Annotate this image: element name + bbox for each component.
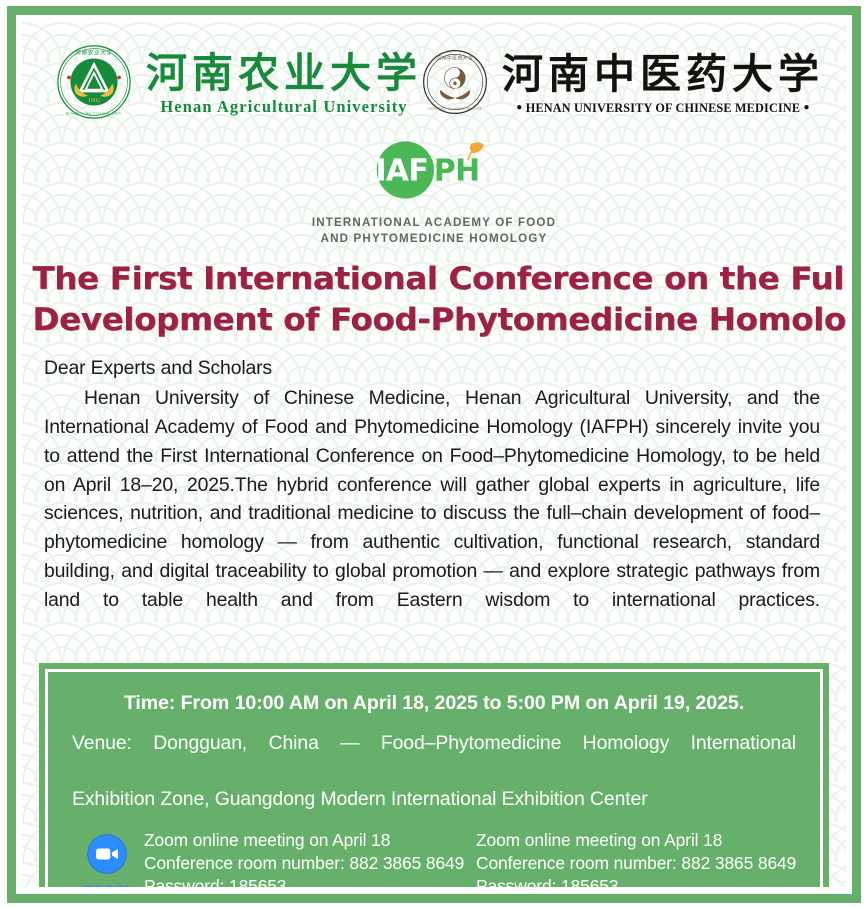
- zoom-meeting-row: zoom Zoom online meeting on April 18 Con…: [66, 829, 802, 887]
- iafph-branding: IAF PH INTERNATIONAL ACADEMY OF FOOD AND…: [22, 139, 846, 246]
- zoom-logo-block: zoom: [70, 829, 144, 887]
- zoom-col2-title: Zoom online meeting on April 18: [476, 829, 802, 852]
- event-venue-line2: Exhibition Zone, Guangdong Modern Intern…: [72, 785, 796, 813]
- svg-text:河南中医药大学: 河南中医药大学: [437, 55, 473, 62]
- invitation-body: Dear Experts and Scholars Henan Universi…: [44, 354, 820, 644]
- zoom-col2-password: Password: 185653: [476, 875, 802, 887]
- henan-agricultural-university-emblem-icon: 1902 河南农业大学 HENAN AGRICULTURAL UNIV.: [56, 44, 132, 125]
- henan-agricultural-university-en-name: Henan Agricultural University: [146, 97, 422, 117]
- event-details-inner: Time: From 10:00 AM on April 18, 2025 to…: [45, 669, 823, 887]
- henan-university-chinese-medicine-name: 河南中医药大学 ● HENAN UNIVERSITY OF CHINESE ME…: [502, 53, 824, 116]
- event-venue: Venue: Dongguan, China — Food–Phytomedic…: [72, 729, 796, 813]
- henan-university-chinese-medicine-en-name: ● HENAN UNIVERSITY OF CHINESE MEDICINE ●: [502, 101, 824, 116]
- bullet-right-icon: ●: [803, 102, 809, 113]
- svg-text:UNIVERSITY OF CHINESE MEDICINE: UNIVERSITY OF CHINESE MEDICINE: [428, 108, 481, 111]
- svg-text:河南农业大学: 河南农业大学: [75, 49, 112, 57]
- svg-text:HENAN AGRICULTURAL UNIV.: HENAN AGRICULTURAL UNIV.: [66, 112, 123, 116]
- conference-title-line1: The First International Conference on th…: [32, 259, 835, 299]
- zoom-col1-title: Zoom online meeting on April 18: [144, 829, 470, 852]
- event-time: Time: From 10:00 AM on April 18, 2025 to…: [66, 692, 802, 715]
- poster-content: 1902 河南农业大学 HENAN AGRICULTURAL UNIV. 河南农…: [22, 22, 846, 887]
- conference-title: The First International Conference on th…: [32, 259, 835, 340]
- event-details-box: Time: From 10:00 AM on April 18, 2025 to…: [39, 663, 829, 887]
- svg-text:1902: 1902: [88, 98, 100, 104]
- zoom-details-column-2: Zoom online meeting on April 18 Conferen…: [470, 829, 802, 887]
- henan-university-chinese-medicine-cn-name: 河南中医药大学: [502, 53, 824, 96]
- henan-university-chinese-medicine-emblem-icon: 河南中医药大学 UNIVERSITY OF CHINESE MEDICINE: [422, 49, 488, 120]
- henan-university-chinese-medicine-logo: 河南中医药大学 UNIVERSITY OF CHINESE MEDICINE 河…: [422, 49, 824, 120]
- invitation-paragraph: Henan University of Chinese Medicine, He…: [44, 384, 820, 644]
- henan-agricultural-university-name: 河南农业大学 Henan Agricultural University: [146, 52, 422, 118]
- zoom-details-column-1: Zoom online meeting on April 18 Conferen…: [144, 829, 470, 887]
- iafph-logo-icon: IAF PH: [362, 188, 506, 205]
- conference-title-line2: Development of Food-Phytomedicine Homolo…: [32, 300, 835, 340]
- bullet-left-icon: ●: [516, 102, 522, 113]
- iafph-subtitle-line1: INTERNATIONAL ACADEMY OF FOOD: [22, 215, 846, 231]
- zoom-col1-password: Password: 185653: [144, 875, 470, 887]
- salutation: Dear Experts and Scholars: [44, 354, 820, 383]
- henan-agricultural-university-logo: 1902 河南农业大学 HENAN AGRICULTURAL UNIV. 河南农…: [56, 44, 422, 125]
- zoom-wordmark: zoom: [70, 881, 144, 887]
- university-logos-row: 1902 河南农业大学 HENAN AGRICULTURAL UNIV. 河南农…: [22, 22, 846, 125]
- event-venue-line1: Venue: Dongguan, China — Food–Phytomedic…: [72, 729, 796, 785]
- henan-agricultural-university-cn-name: 河南农业大学: [146, 52, 422, 95]
- svg-text:IAF: IAF: [375, 154, 428, 189]
- poster-inner-panel: 1902 河南农业大学 HENAN AGRICULTURAL UNIV. 河南农…: [22, 22, 846, 887]
- conference-poster: 1902 河南农业大学 HENAN AGRICULTURAL UNIV. 河南农…: [0, 0, 868, 909]
- zoom-col2-room: Conference room number: 882 3865 8649: [476, 852, 802, 875]
- iafph-subtitle-line2: AND PHYTOMEDICINE HOMOLOGY: [22, 231, 846, 247]
- svg-text:PH: PH: [434, 154, 480, 189]
- iafph-subtitle: INTERNATIONAL ACADEMY OF FOOD AND PHYTOM…: [22, 215, 846, 246]
- zoom-col1-room: Conference room number: 882 3865 8649: [144, 852, 470, 875]
- zoom-logo-icon: [86, 862, 128, 879]
- henan-university-chinese-medicine-en-label: HENAN UNIVERSITY OF CHINESE MEDICINE: [526, 101, 800, 115]
